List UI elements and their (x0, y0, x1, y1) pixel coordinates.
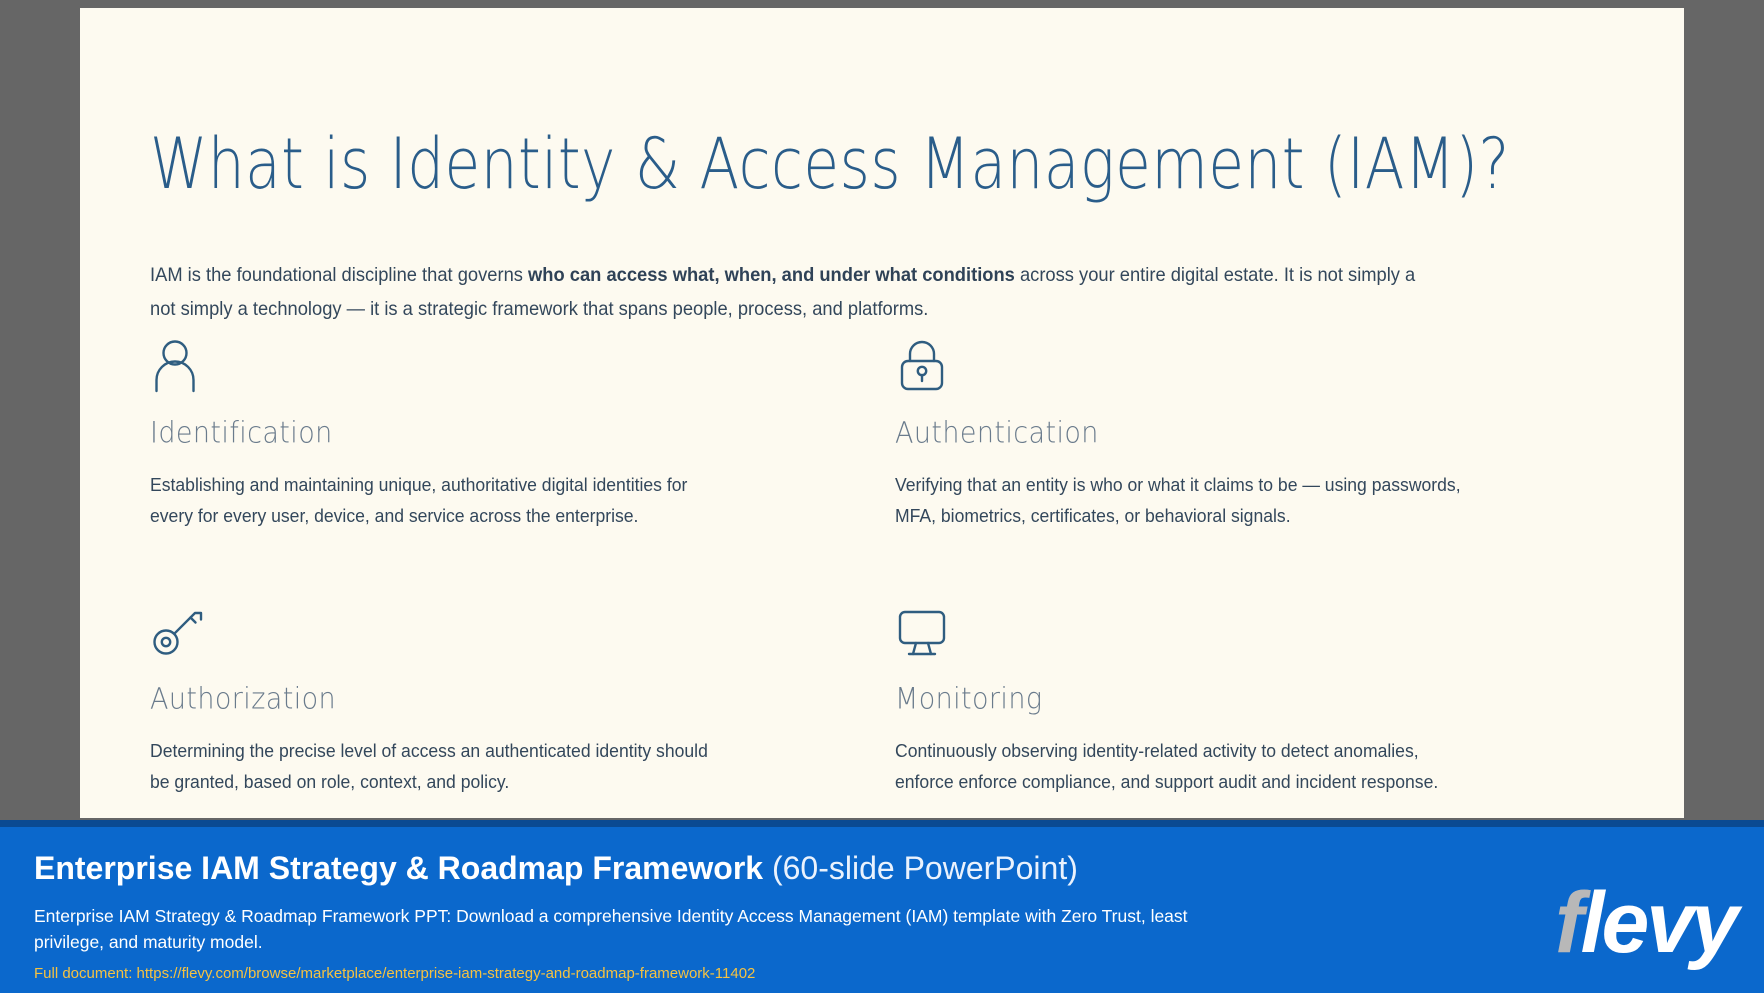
banner-title-light: (60-slide PowerPoint) (763, 850, 1078, 886)
pillar-row-2: Authorization Determining the precise le… (150, 604, 1630, 797)
pillar-authentication: Authentication Verifying that an entity … (890, 338, 1630, 531)
banner-description: Enterprise IAM Strategy & Roadmap Framew… (34, 903, 1234, 955)
intro-paragraph: IAM is the foundational discipline that … (150, 258, 1428, 326)
flevy-logo-f: f (1555, 875, 1581, 971)
pillar-heading-authorization: Authorization (150, 682, 830, 716)
pillar-identification: Identification Establishing and maintain… (150, 338, 890, 531)
pillar-monitoring: Monitoring Continuously observing identi… (890, 604, 1630, 797)
slide-canvas: What is Identity & Access Management (IA… (80, 8, 1684, 818)
flevy-logo[interactable]: flevy (1555, 880, 1736, 966)
intro-text-bold: who can access what, when, and under wha… (528, 264, 1015, 286)
pillar-body-authentication: Verifying that an entity is who or what … (895, 469, 1465, 531)
pillar-authorization: Authorization Determining the precise le… (150, 604, 890, 797)
monitor-icon (895, 604, 1570, 660)
pillar-body-monitoring: Continuously observing identity-related … (895, 735, 1465, 797)
flevy-logo-levy: levy (1581, 875, 1736, 971)
page-title: What is Identity & Access Management (IA… (150, 126, 1510, 204)
person-icon (150, 338, 830, 394)
pillar-heading-identification: Identification (150, 416, 830, 450)
flevy-banner: Enterprise IAM Strategy & Roadmap Framew… (0, 820, 1764, 993)
pillar-row-1: Identification Establishing and maintain… (150, 338, 1630, 531)
pillar-body-authorization: Determining the precise level of access … (150, 735, 720, 797)
pillar-grid: Identification Establishing and maintain… (150, 338, 1630, 797)
intro-text-part1: IAM is the foundational discipline that … (150, 264, 528, 286)
pillar-heading-monitoring: Monitoring (895, 682, 1570, 716)
banner-title-strong: Enterprise IAM Strategy & Roadmap Framew… (34, 850, 763, 886)
banner-title: Enterprise IAM Strategy & Roadmap Framew… (34, 850, 1078, 887)
key-icon (150, 604, 830, 660)
pillar-body-identification: Establishing and maintaining unique, aut… (150, 469, 720, 531)
banner-document-link[interactable]: Full document: https://flevy.com/browse/… (34, 965, 755, 982)
padlock-icon (895, 338, 1570, 394)
pillar-heading-authentication: Authentication (895, 416, 1570, 450)
